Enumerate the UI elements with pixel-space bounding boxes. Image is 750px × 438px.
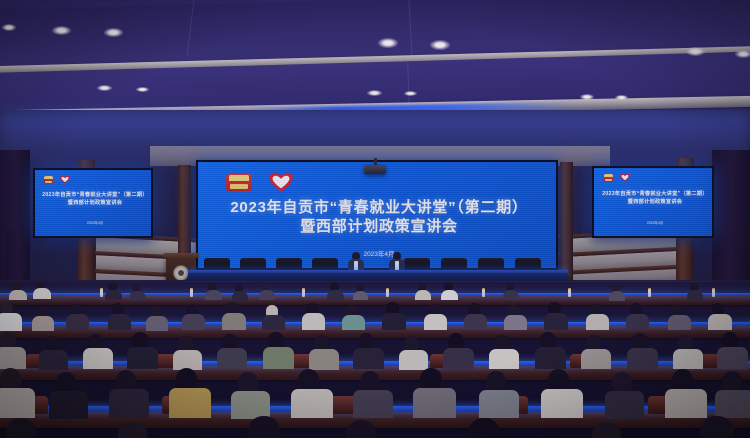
stage-monitor	[204, 258, 230, 270]
audience-member	[360, 371, 391, 414]
audience-member	[428, 304, 446, 328]
audience-member	[632, 333, 656, 366]
ceiling	[0, 0, 750, 118]
audience-member	[358, 333, 382, 366]
audience-member	[208, 282, 221, 297]
audience-member	[678, 335, 701, 366]
left-screen-title-line-1: 2023年自贡市“青春就业大讲堂”（第二期）	[39, 192, 151, 199]
audience-member	[238, 372, 268, 414]
audience-member	[712, 303, 731, 328]
main-led-screen[interactable]: 2023年自贡市“青春就业大讲堂”（第二期） 暨西部计划政策宣讲会 2023年4…	[196, 160, 558, 270]
left-screen-date: 2023年4月	[39, 220, 151, 225]
ceiling-downlight	[686, 47, 705, 56]
ceiling-downlight	[2, 24, 16, 31]
audience-member	[235, 284, 248, 298]
main-screen-date: 2023年4月	[204, 248, 554, 258]
audience-member	[444, 282, 457, 297]
audience-member	[420, 368, 453, 414]
audience-member	[540, 332, 564, 366]
audience-member	[612, 372, 642, 414]
audience-member	[330, 282, 343, 297]
audience-member	[108, 282, 121, 297]
audience-member	[132, 283, 145, 298]
audience-member	[70, 304, 88, 328]
audience-member	[700, 416, 746, 438]
main-screen-logos	[226, 171, 296, 193]
audience-member	[36, 282, 50, 296]
audience-member	[112, 303, 130, 328]
audience-member	[612, 284, 625, 298]
audience-member	[346, 305, 364, 328]
left-side-screen[interactable]: 2023年自贡市“青春就业大讲堂”（第二期） 暨西部计划政策宣讲会 2023年4…	[33, 168, 153, 238]
podium-top-surface	[163, 253, 199, 258]
audience-member	[36, 306, 53, 328]
audience-member	[468, 418, 512, 438]
stage-monitor	[240, 258, 266, 270]
left-screen-title-line-2: 暨西部计划政策宣讲会	[39, 200, 151, 207]
audience-member	[266, 305, 284, 328]
right-screen-date: 2023年4月	[598, 220, 712, 225]
water-bottle	[482, 288, 485, 297]
audience-member	[176, 368, 208, 414]
ceiling-projector	[364, 165, 386, 174]
audience-member	[262, 283, 275, 297]
audience-member	[314, 335, 337, 366]
audience-member	[222, 334, 245, 366]
audience-member	[306, 303, 324, 328]
podium-emblem	[173, 265, 189, 281]
right-screen-title-line-2: 暨西部计划政策宣讲会	[598, 199, 712, 206]
audience-member	[0, 332, 24, 366]
auditorium-photo: 2023年自贡市“青春就业大讲堂”（第二期） 暨西部计划政策宣讲会 2023年4…	[0, 0, 750, 438]
audience-member	[590, 304, 608, 328]
audience-member	[468, 303, 486, 328]
audience-member	[592, 422, 632, 438]
audience-member	[506, 283, 519, 297]
main-screen-title-line-2: 暨西部计划政策宣讲会	[204, 217, 554, 237]
communist-youth-league-emblem	[603, 174, 614, 182]
ceiling-downlight	[136, 87, 149, 92]
audience-member	[116, 370, 147, 414]
left-screen-logos	[43, 175, 71, 184]
audience-member	[150, 306, 167, 328]
water-bottle	[100, 288, 103, 297]
audience-member	[226, 302, 245, 328]
audience-member	[298, 369, 330, 414]
communist-youth-league-emblem	[226, 174, 252, 191]
audience-member	[248, 416, 292, 438]
audience-member	[88, 334, 111, 366]
right-screen-logos	[603, 173, 631, 182]
water-bottle	[302, 288, 305, 297]
water-bottle	[648, 288, 651, 297]
volunteer-heart-emblem	[59, 175, 71, 184]
ceiling-downlight	[735, 50, 750, 58]
ceiling-downlight	[404, 91, 417, 96]
audience-member	[44, 336, 66, 366]
audience-member	[672, 369, 704, 414]
audience-member	[346, 420, 388, 438]
ceiling-downlight	[104, 28, 123, 37]
water-bottle	[712, 288, 715, 297]
audience-member	[118, 422, 158, 438]
audience-member	[672, 305, 690, 328]
audience-member	[418, 283, 431, 297]
audience-member	[630, 303, 648, 328]
audience-member	[12, 282, 26, 298]
volunteer-heart-emblem	[619, 173, 631, 182]
stage-monitor	[441, 258, 467, 270]
audience-member	[494, 335, 517, 366]
audience-area	[0, 282, 750, 438]
audience-member	[548, 302, 567, 328]
audience-member	[268, 332, 292, 366]
audience-member	[132, 332, 156, 366]
audience-member	[56, 372, 86, 414]
audience-member	[0, 302, 20, 328]
audience-member	[548, 369, 580, 414]
audience-member	[386, 302, 405, 328]
heart-icon	[59, 175, 71, 184]
audience-member	[508, 305, 526, 328]
stage-monitor	[478, 258, 504, 270]
ceiling-downlight	[615, 95, 628, 100]
audience-member	[722, 332, 746, 366]
stage-monitor	[312, 258, 338, 270]
audience-member	[690, 283, 703, 297]
audience-member	[186, 304, 204, 328]
ceiling-downlight	[430, 40, 450, 50]
side-pillar-right	[712, 150, 750, 296]
heart-icon	[266, 171, 296, 193]
audience-member	[586, 335, 609, 366]
audience-member	[486, 371, 517, 414]
volunteer-heart-emblem	[266, 171, 296, 193]
ceiling-downlight	[367, 90, 382, 96]
stage-monitor	[404, 258, 430, 270]
stage-monitor	[276, 258, 302, 270]
ceiling-downlight	[97, 85, 112, 91]
water-bottle	[190, 288, 193, 297]
audience-member	[178, 336, 200, 366]
audience-member	[722, 371, 750, 414]
stage-monitor	[515, 258, 541, 270]
audience-member	[404, 336, 426, 366]
ceiling-downlight	[580, 94, 594, 100]
communist-youth-league-emblem	[43, 176, 54, 184]
water-bottle	[386, 288, 389, 297]
right-side-screen[interactable]: 2023年自贡市“青春就业大讲堂”（第二期） 暨西部计划政策宣讲会 2023年4…	[592, 166, 714, 238]
audience-member	[356, 284, 368, 298]
audience-member	[0, 368, 32, 414]
water-bottle	[568, 288, 571, 297]
wall-column-center-right	[560, 162, 573, 286]
audience-member	[6, 418, 48, 438]
heart-icon	[619, 173, 631, 182]
audience-member	[448, 333, 472, 366]
ceiling-downlight	[52, 26, 71, 35]
ceiling-downlight	[378, 38, 398, 48]
right-screen-title-line-1: 2023年自贡市“青春就业大讲堂”（第二期）	[598, 191, 712, 198]
main-screen-title-line-1: 2023年自贡市“青春就业大讲堂”（第二期）	[204, 198, 554, 218]
